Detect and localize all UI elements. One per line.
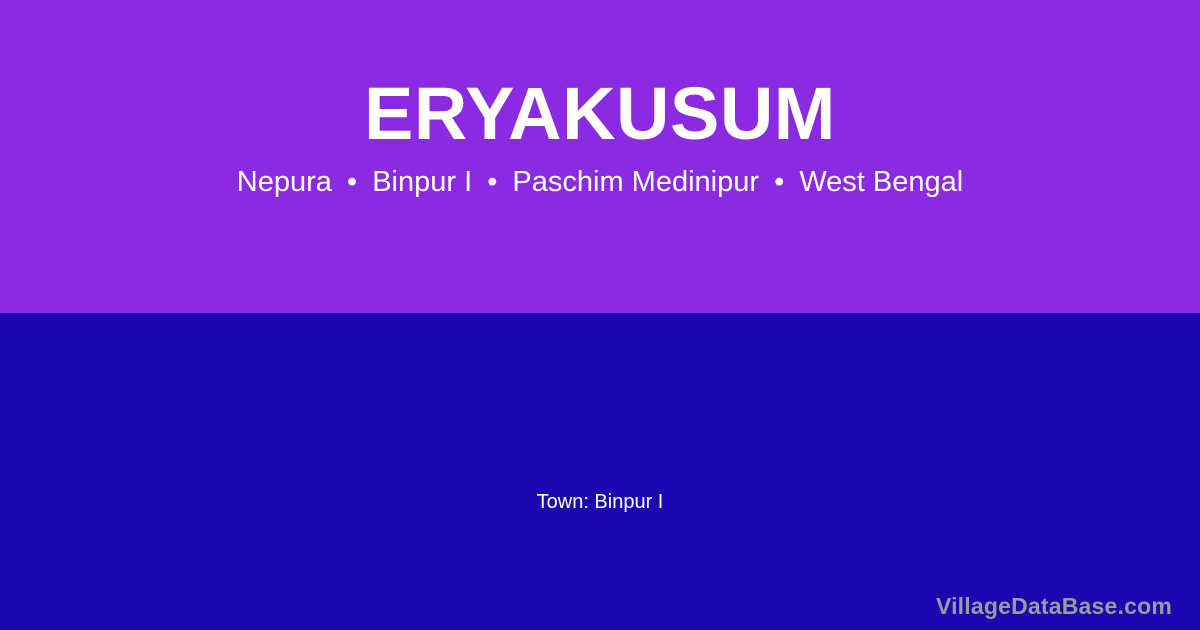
breadcrumb-separator-icon: • [340,165,364,200]
breadcrumb-district: Paschim Medinipur [512,166,759,198]
breadcrumb: Nepura • Binpur I • Paschim Medinipur • … [237,165,963,200]
breadcrumb-separator-icon: • [480,165,504,200]
page-title: ERYAKUSUM [364,76,836,151]
body-band: Town: Binpur I [0,313,1200,630]
breadcrumb-state: West Bengal [799,166,963,198]
breadcrumb-block: Binpur I [372,166,472,198]
breadcrumb-separator-icon: • [767,165,791,200]
site-watermark: VillageDataBase.com [936,592,1172,622]
breadcrumb-panchayat: Nepura [237,166,332,198]
village-info-card: ERYAKUSUM Nepura • Binpur I • Paschim Me… [0,0,1200,630]
header-band: ERYAKUSUM Nepura • Binpur I • Paschim Me… [0,0,1200,313]
town-detail-text: Town: Binpur I [0,489,1200,515]
